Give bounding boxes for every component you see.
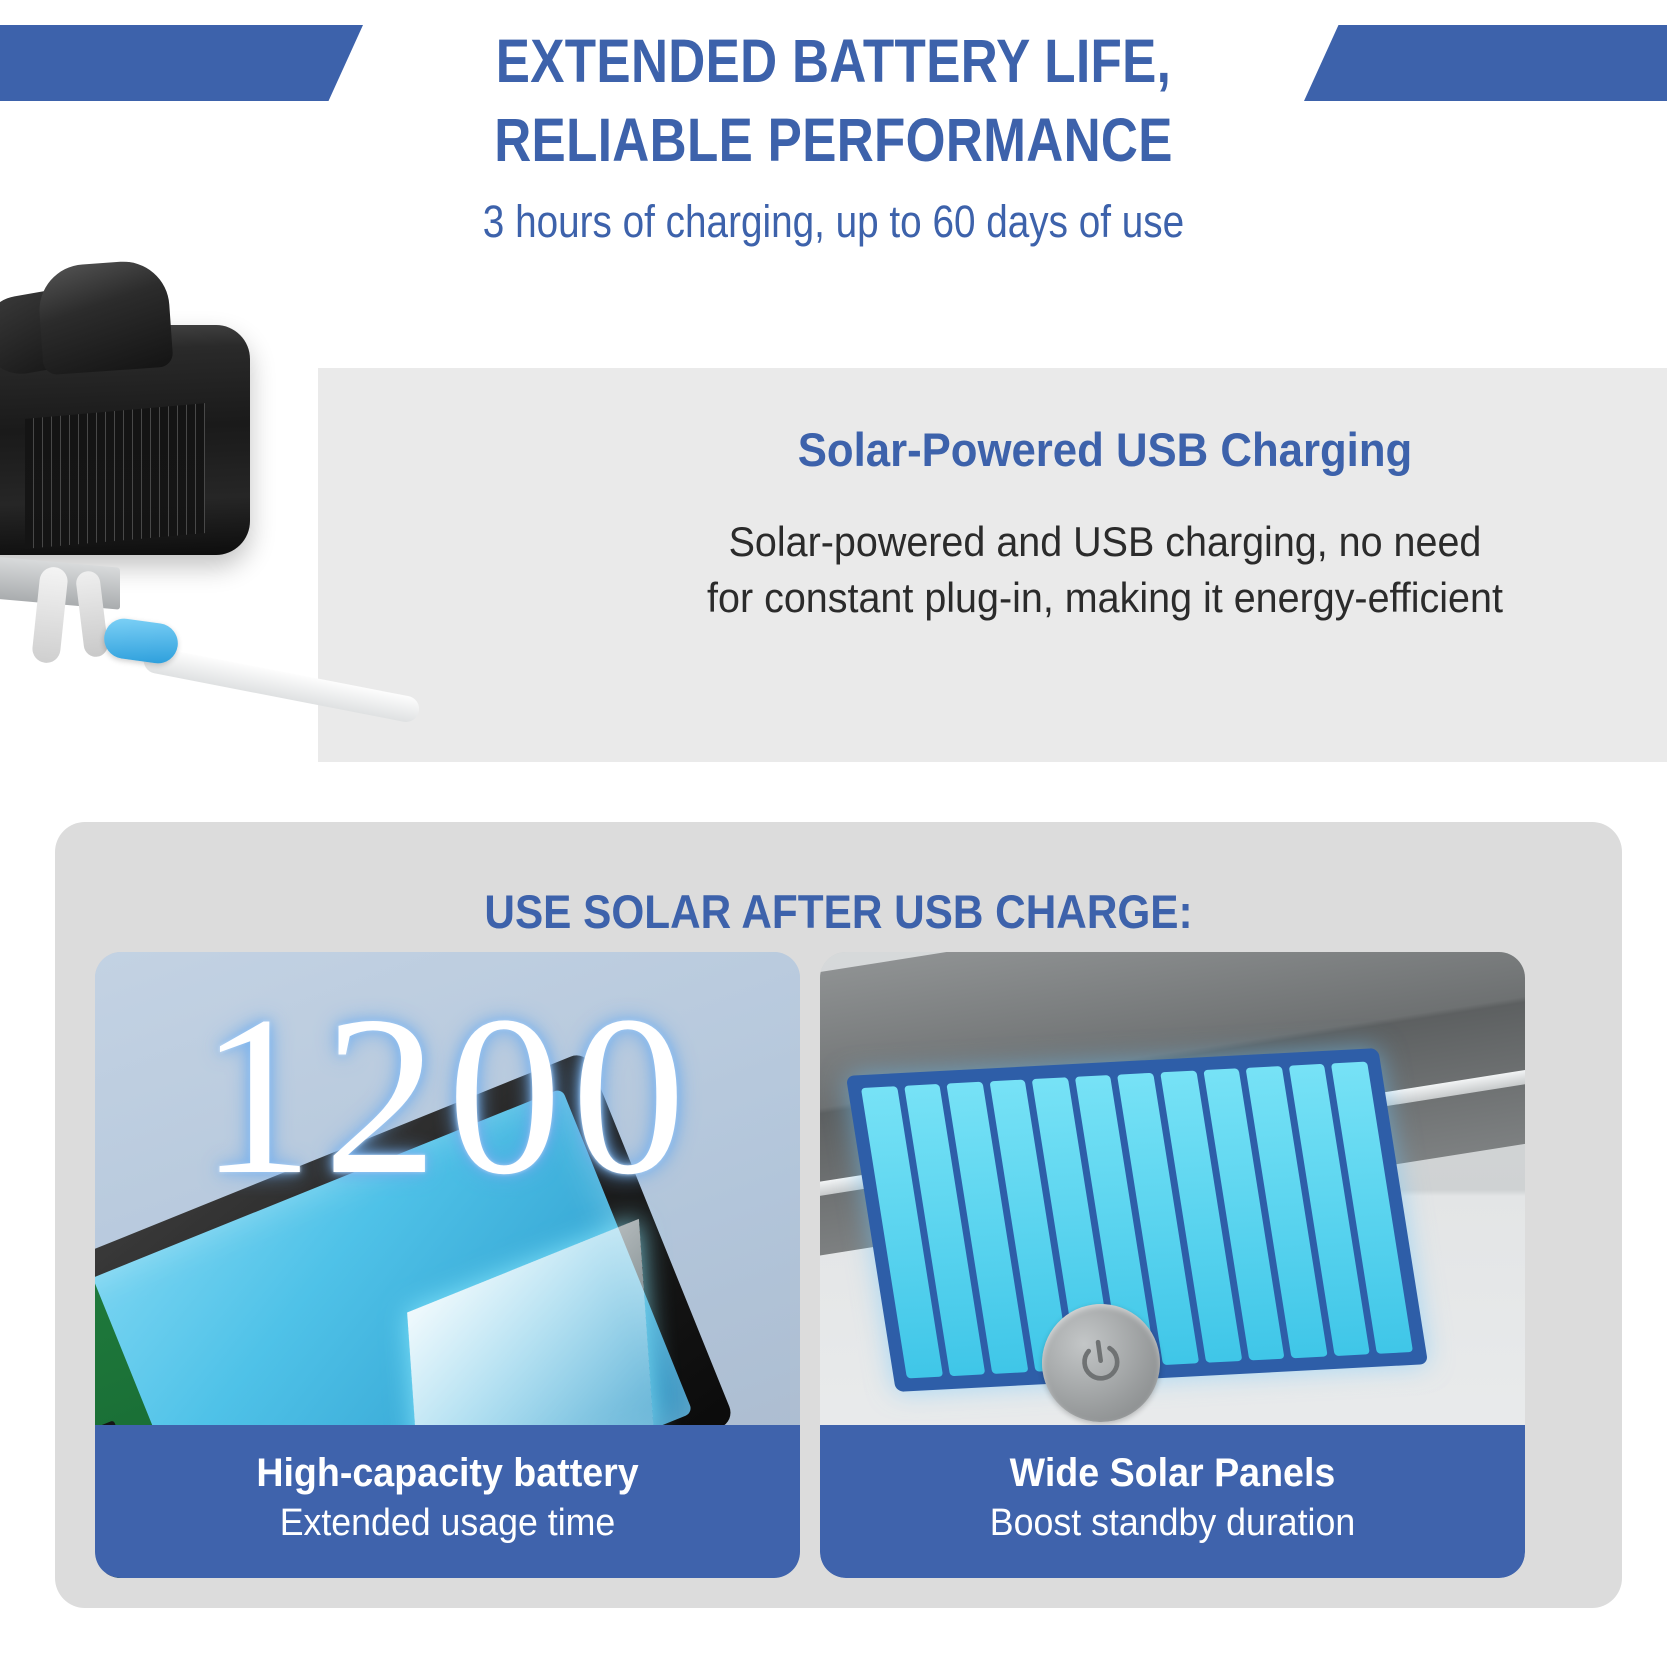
card-caption-battery: High-capacity battery Extended usage tim…	[95, 1425, 800, 1578]
page-title: EXTENDED BATTERY LIFE, RELIABLE PERFORMA…	[133, 22, 1533, 180]
feature-body-line1: Solar-powered and USB charging, no need	[593, 514, 1618, 570]
caption-title: Wide Solar Panels	[841, 1448, 1504, 1498]
product-photo-toothbrush-holder	[0, 255, 350, 725]
device-cap	[36, 259, 173, 376]
section-heading: USE SOLAR AFTER USB CHARGE:	[133, 883, 1543, 941]
feature-body: Solar-powered and USB charging, no need …	[593, 514, 1618, 626]
caption-subtitle: Boost standby duration	[841, 1498, 1504, 1548]
feature-heading: Solar-Powered USB Charging	[598, 420, 1612, 480]
card-caption-solar: Wide Solar Panels Boost standby duration	[820, 1425, 1525, 1578]
page-subtitle: 3 hours of charging, up to 60 days of us…	[117, 193, 1551, 251]
card-wide-solar-panels[interactable]: Wide Solar Panels Boost standby duration	[820, 952, 1525, 1578]
toothbrush-head	[102, 616, 181, 666]
caption-title: High-capacity battery	[116, 1448, 779, 1498]
caption-subtitle: Extended usage time	[116, 1498, 779, 1548]
battery-capacity-overlay: 1200	[95, 980, 800, 1212]
page-title-line2: RELIABLE PERFORMANCE	[133, 101, 1533, 180]
card-high-capacity-battery[interactable]: 1200 High-capacity battery Extended usag…	[95, 952, 800, 1578]
feature-body-line2: for constant plug-in, making it energy-e…	[593, 570, 1618, 626]
feature-copy: Solar-Powered USB Charging Solar-powered…	[560, 420, 1650, 626]
device-solar-panel-grid	[25, 403, 205, 549]
solar-panel-section: USE SOLAR AFTER USB CHARGE:	[55, 822, 1622, 1608]
infographic-page: EXTENDED BATTERY LIFE, RELIABLE PERFORMA…	[0, 0, 1667, 1667]
page-title-line1: EXTENDED BATTERY LIFE,	[496, 27, 1171, 95]
